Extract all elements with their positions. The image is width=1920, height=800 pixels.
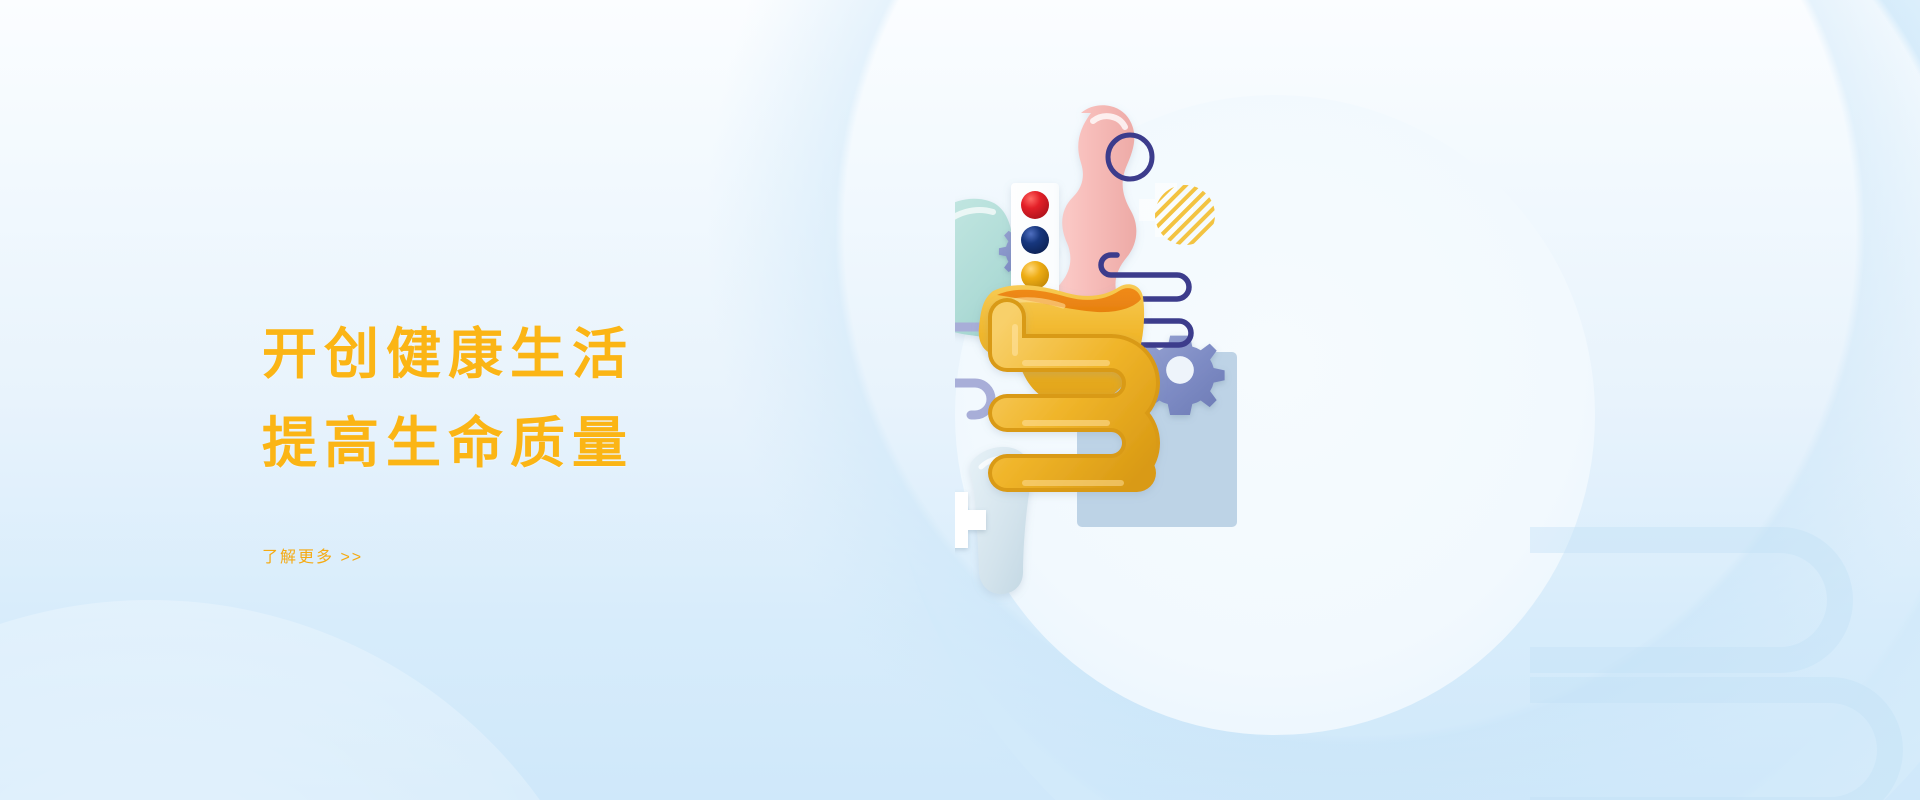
sample-dot-navy-icon <box>1021 226 1049 254</box>
striped-circle-icon <box>1155 185 1215 245</box>
page-title-line-1: 开创健康生活 <box>262 310 882 399</box>
medical-illustration <box>955 95 1595 735</box>
background-arc-bottom-left <box>0 600 630 800</box>
digestive-system-svg <box>955 95 1595 735</box>
hero-banner: 开创健康生活 提高生命质量 了解更多 >> <box>0 0 1920 800</box>
page-title-line-2: 提高生命质量 <box>262 399 882 488</box>
intestine-coil-icon <box>1007 317 1141 483</box>
learn-more-link[interactable]: 了解更多 >> <box>262 543 363 567</box>
sample-dot-gold-icon <box>1021 261 1049 289</box>
sample-dot-red-icon <box>1021 191 1049 219</box>
hero-copy: 开创健康生活 提高生命质量 了解更多 >> <box>262 310 882 567</box>
